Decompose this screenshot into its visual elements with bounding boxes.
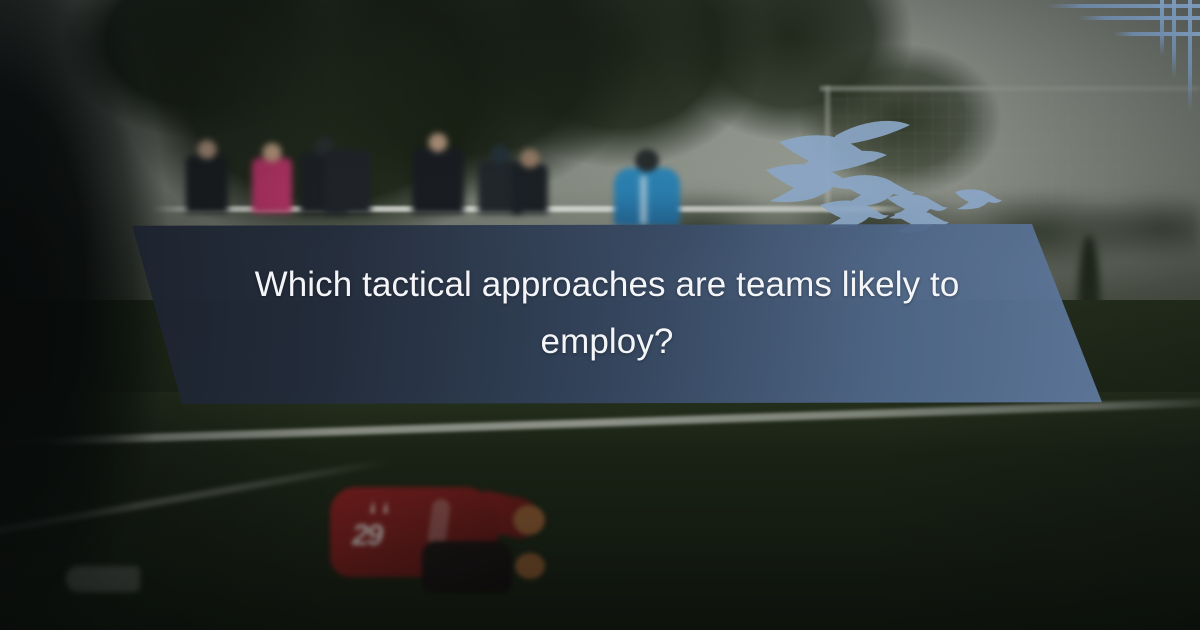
quote-banner-inner: Which tactical approaches are teams like… [191,257,1011,370]
corner-bracket [1020,0,1200,160]
bracket-rule-vertical [1160,0,1164,56]
bird-icon [820,201,889,229]
bracket-rule-vertical [1188,0,1192,112]
bracket-rule-vertical [1172,0,1176,78]
bracket-rule-horizontal [1048,4,1200,8]
quote-text: Which tactical approaches are teams like… [203,257,1011,370]
bracket-rule-horizontal [1078,16,1200,20]
bird-icon [955,189,1002,209]
quote-banner: Which tactical approaches are teams like… [100,224,1102,404]
bird-icon [835,121,910,146]
quote-card: 29 [0,0,1200,630]
